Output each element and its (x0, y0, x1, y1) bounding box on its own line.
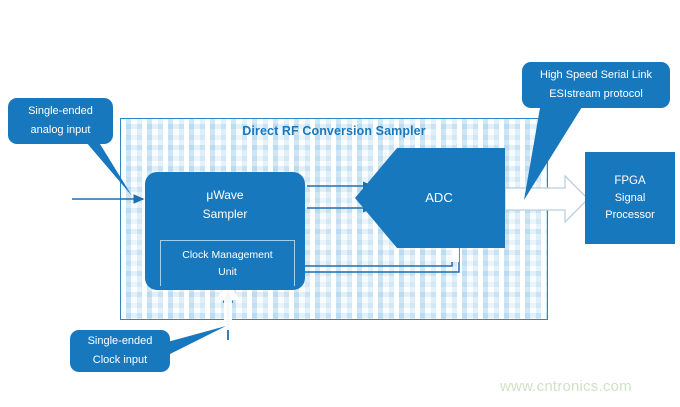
callout-clock-line2: Clock input (93, 351, 147, 370)
uwave-sampler-label-line1: μWave (206, 186, 243, 205)
callout-hss-line1: High Speed Serial Link (540, 66, 652, 85)
callout-analog-line1: Single-ended (28, 102, 93, 121)
callout-high-speed-serial-link: High Speed Serial Link ESIstream protoco… (522, 62, 670, 108)
fpga-label-line2: Signal (615, 190, 646, 207)
clock-management-unit-block: Clock Management Unit (160, 240, 295, 286)
callout-analog-line2: analog input (31, 121, 91, 140)
adc-label: ADC (407, 188, 452, 208)
analog-callout-tail (86, 142, 132, 196)
callout-clock-line1: Single-ended (88, 332, 153, 351)
fpga-label-line1: FPGA (614, 173, 645, 190)
fpga-block: FPGA Signal Processor (585, 152, 675, 244)
cmu-label-line1: Clock Management (182, 247, 272, 264)
cmu-label-line2: Unit (218, 264, 237, 281)
callout-clock-input: Single-ended Clock input (70, 330, 170, 372)
high-speed-serial-link-arrow (505, 176, 588, 222)
uwave-sampler-label-line2: Sampler (203, 205, 248, 224)
watermark: www.cntronics.com (500, 378, 632, 395)
callout-analog-input: Single-ended analog input (8, 98, 113, 144)
diagram-canvas: Direct RF Conversion Sampler (0, 0, 680, 407)
fpga-label-line3: Processor (605, 207, 655, 224)
callout-hss-line2: ESIstream protocol (549, 85, 643, 104)
